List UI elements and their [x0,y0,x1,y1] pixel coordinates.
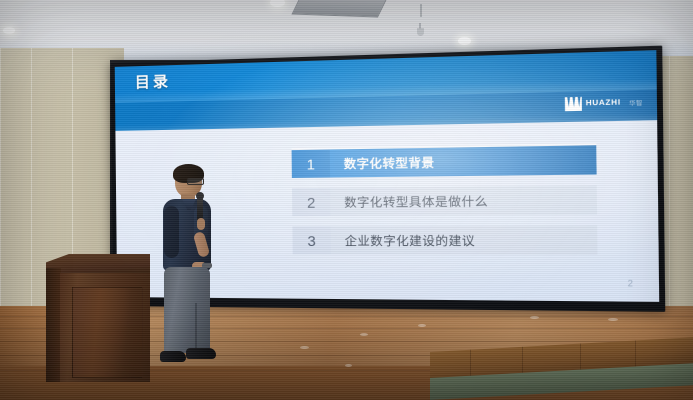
brand-logo: HUAZHI 华智 [565,95,643,111]
presenter-legs [164,267,210,353]
air-vent-icon [291,0,388,18]
agenda-item-1[interactable]: 1 数字化转型背景 [292,145,597,178]
agenda-item-3[interactable]: 3 企业数字化建设的建议 [292,225,597,254]
agenda-item-label: 数字化转型背景 [330,145,597,177]
agenda-item-label: 数字化转型具体是做什么 [330,185,597,216]
downlight-icon [3,27,15,34]
glasses-icon [187,178,204,185]
brand-logo-text: HUAZHI [586,99,621,107]
presenter-arm-back [164,206,179,258]
agenda-item-number: 2 [292,188,330,216]
floor-highlight [418,324,426,327]
podium-front-panel [72,287,143,378]
floor-highlight [345,364,352,367]
agenda-item-2[interactable]: 2 数字化转型具体是做什么 [292,185,597,216]
podium-top-surface [46,254,150,274]
agenda-item-label: 企业数字化建设的建议 [331,225,598,254]
brand-logo-subtext: 华智 [629,98,643,107]
presenter-hand-on-mic [197,218,205,230]
floor-highlight [530,316,539,319]
podium-side-panel [46,268,61,382]
floor-highlight [360,333,368,336]
podium [46,254,150,382]
presenter [150,166,228,374]
slide-title: 目录 [135,70,171,92]
floor-highlight [608,318,618,321]
agenda-item-number: 1 [292,150,330,178]
agenda-item-number: 3 [292,226,331,254]
downlight-icon [458,37,471,45]
agenda-list: 1 数字化转型背景 2 数字化转型具体是做什么 3 企业数字化建设的建议 [292,145,598,265]
presenter-shoe-right [186,348,216,359]
photo-scene: 目录 HUAZHI 华智 1 数字化转型背景 2 数字化转型具体是做什么 3 企… [0,0,693,400]
slide-page-number: 2 [628,279,633,289]
podium-body [60,273,150,382]
huazhi-w-mark-icon [565,97,583,111]
presenter-shoe-left [160,351,186,362]
leg-separation [195,303,197,353]
sprinkler-head-icon [417,28,424,36]
ceiling-pipe [420,4,422,17]
floor-highlight [300,346,309,349]
